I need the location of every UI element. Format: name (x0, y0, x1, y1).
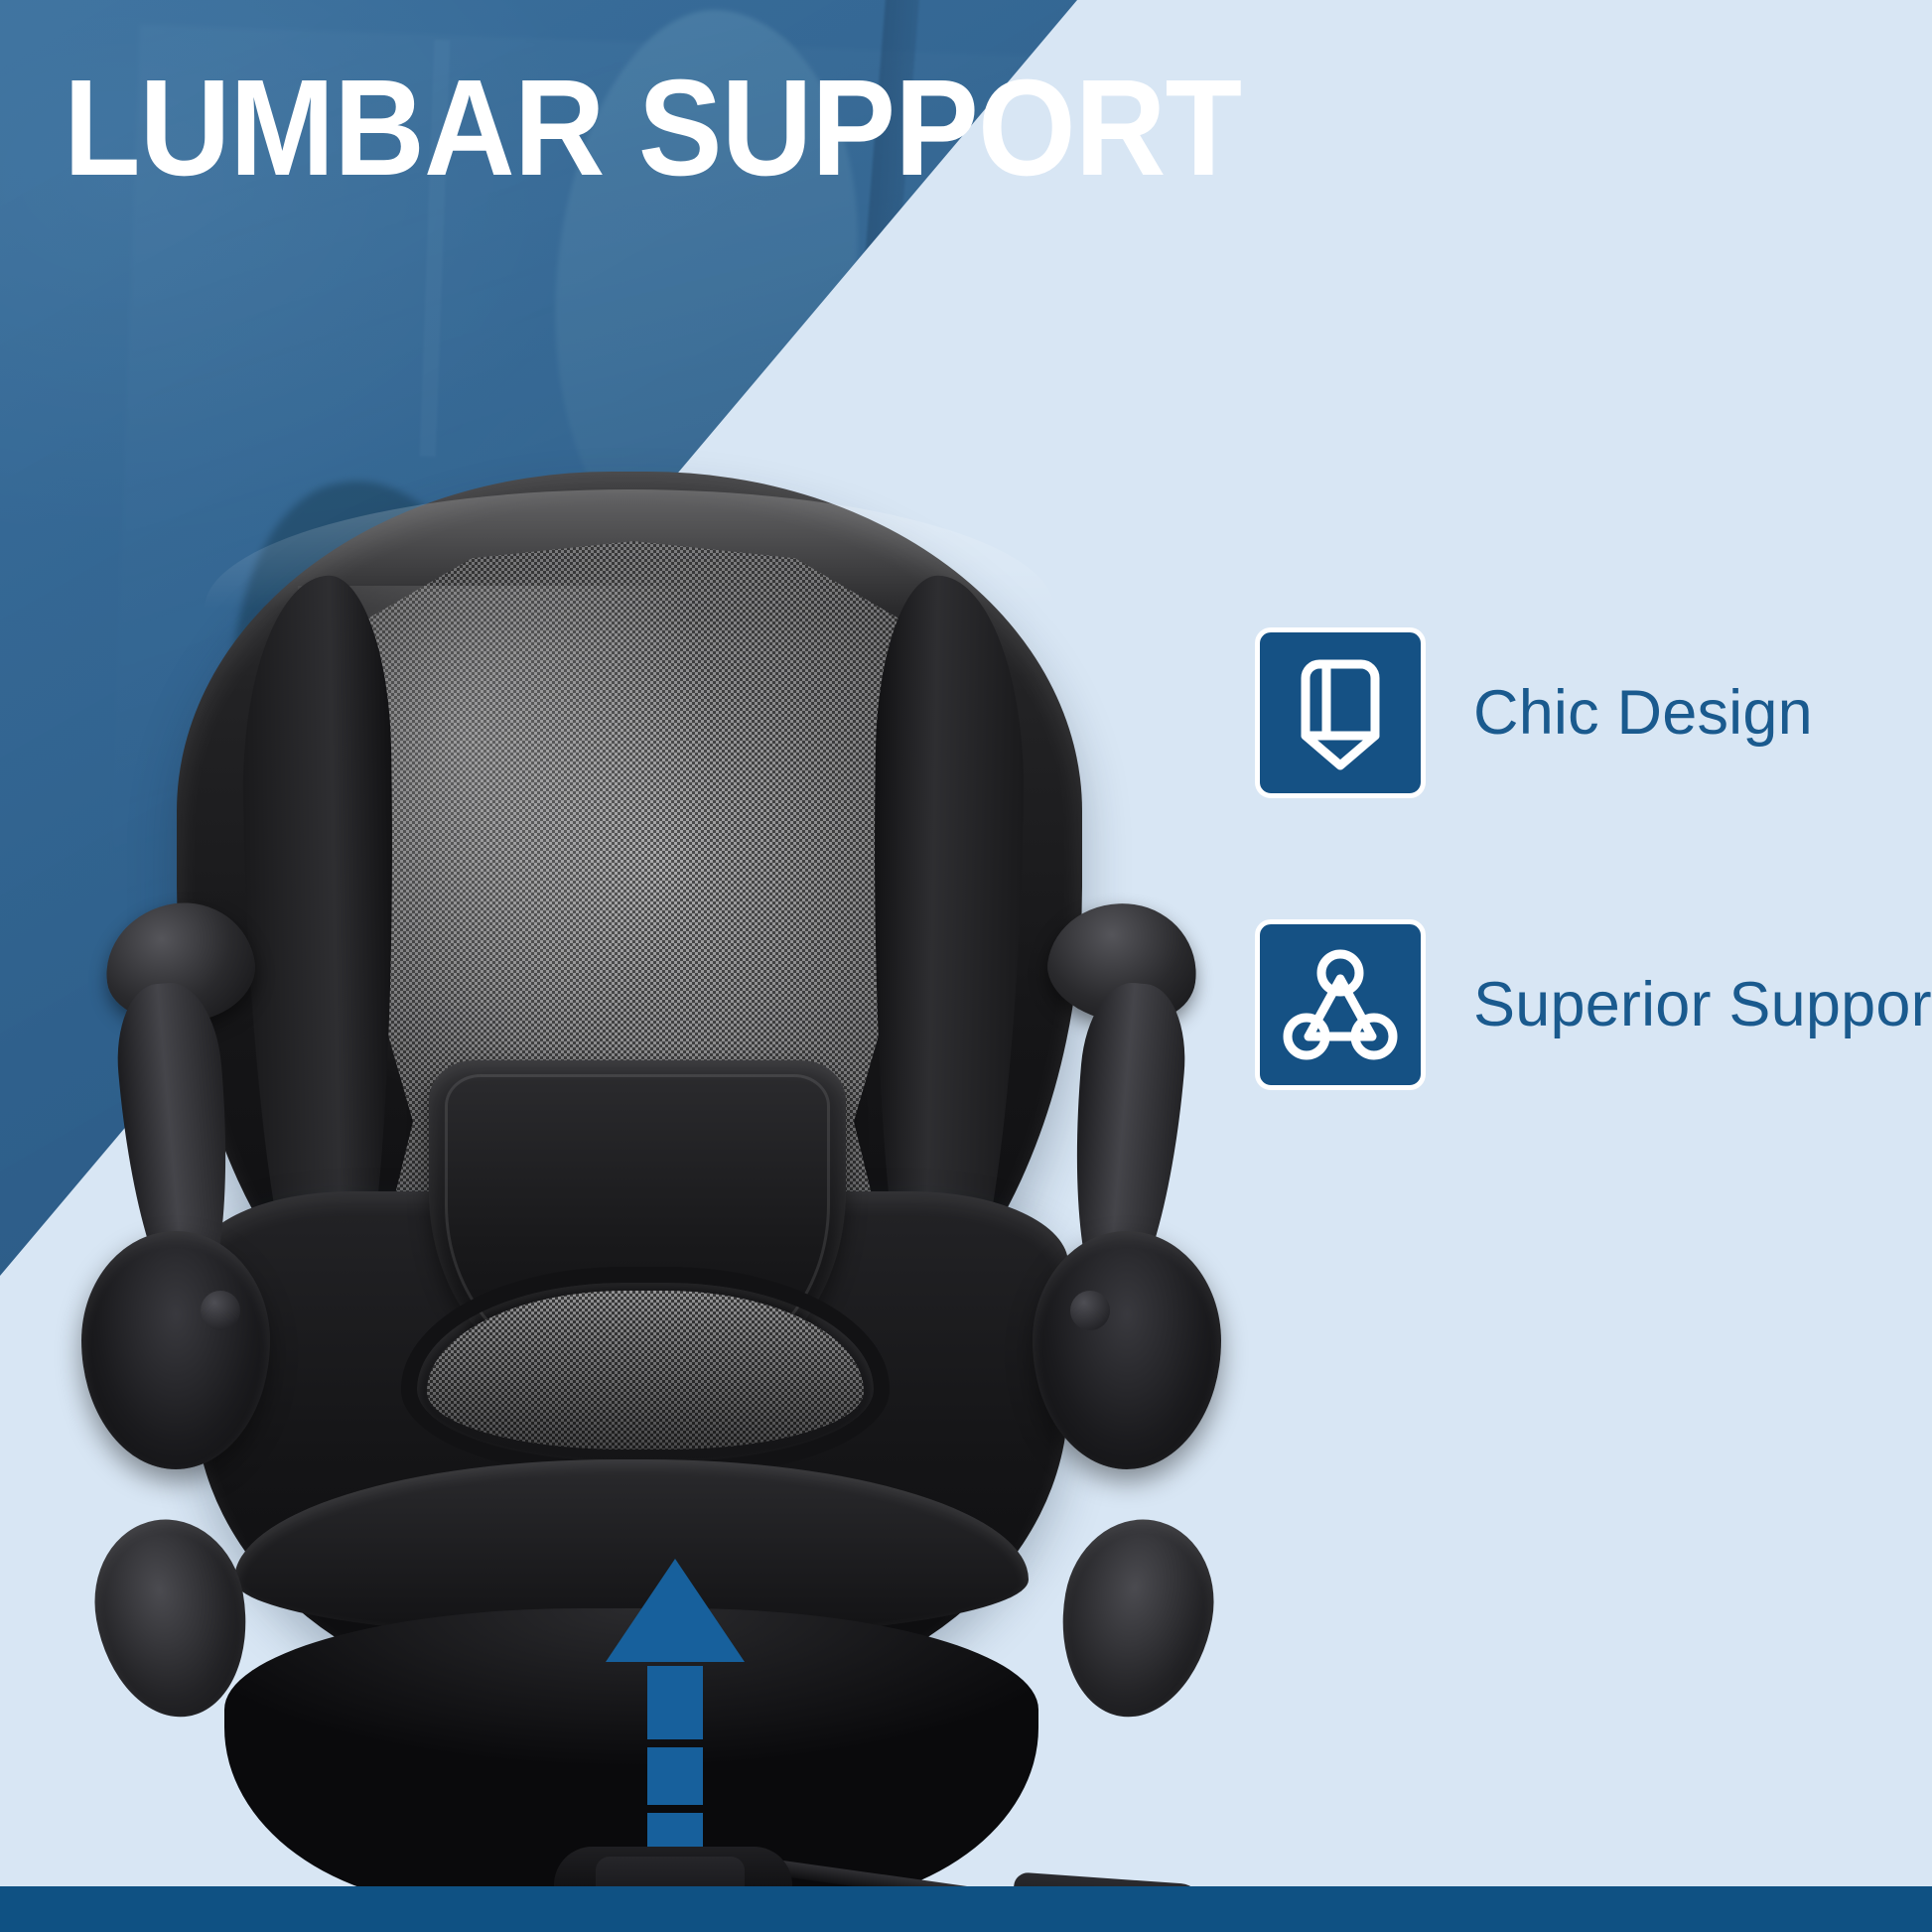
office-chair-image (0, 437, 1350, 1906)
feature-item-superior-support[interactable]: Superior Support (1255, 919, 1910, 1090)
arrow-segment-3 (647, 1813, 703, 1847)
arrow-segment-2 (647, 1747, 703, 1805)
triangle-nodes-icon (1255, 919, 1426, 1090)
feature-label: Superior Support (1473, 969, 1932, 1040)
up-arrow-icon (606, 1559, 745, 1837)
armrest-right (1023, 903, 1221, 1420)
page-title: LUMBAR SUPPORT (64, 60, 1241, 197)
feature-item-chic-design[interactable]: Chic Design (1255, 627, 1910, 798)
product-infographic: LUMBAR SUPPORT (0, 0, 1932, 1932)
armrest-right-pivot (1046, 1507, 1227, 1728)
armrest-left-knob (201, 1291, 240, 1330)
arrow-head (606, 1559, 745, 1662)
feature-label: Chic Design (1473, 677, 1813, 749)
lumbar-mesh-frame (401, 1267, 890, 1477)
armrest-left (81, 903, 280, 1420)
arrow-segment-1 (647, 1666, 703, 1739)
armrest-right-hub (1033, 1231, 1221, 1469)
pencil-icon (1255, 627, 1426, 798)
feature-list: Chic Design Superior Support (1255, 627, 1910, 1211)
armrest-right-knob (1070, 1291, 1110, 1330)
footer-bar (0, 1886, 1932, 1932)
